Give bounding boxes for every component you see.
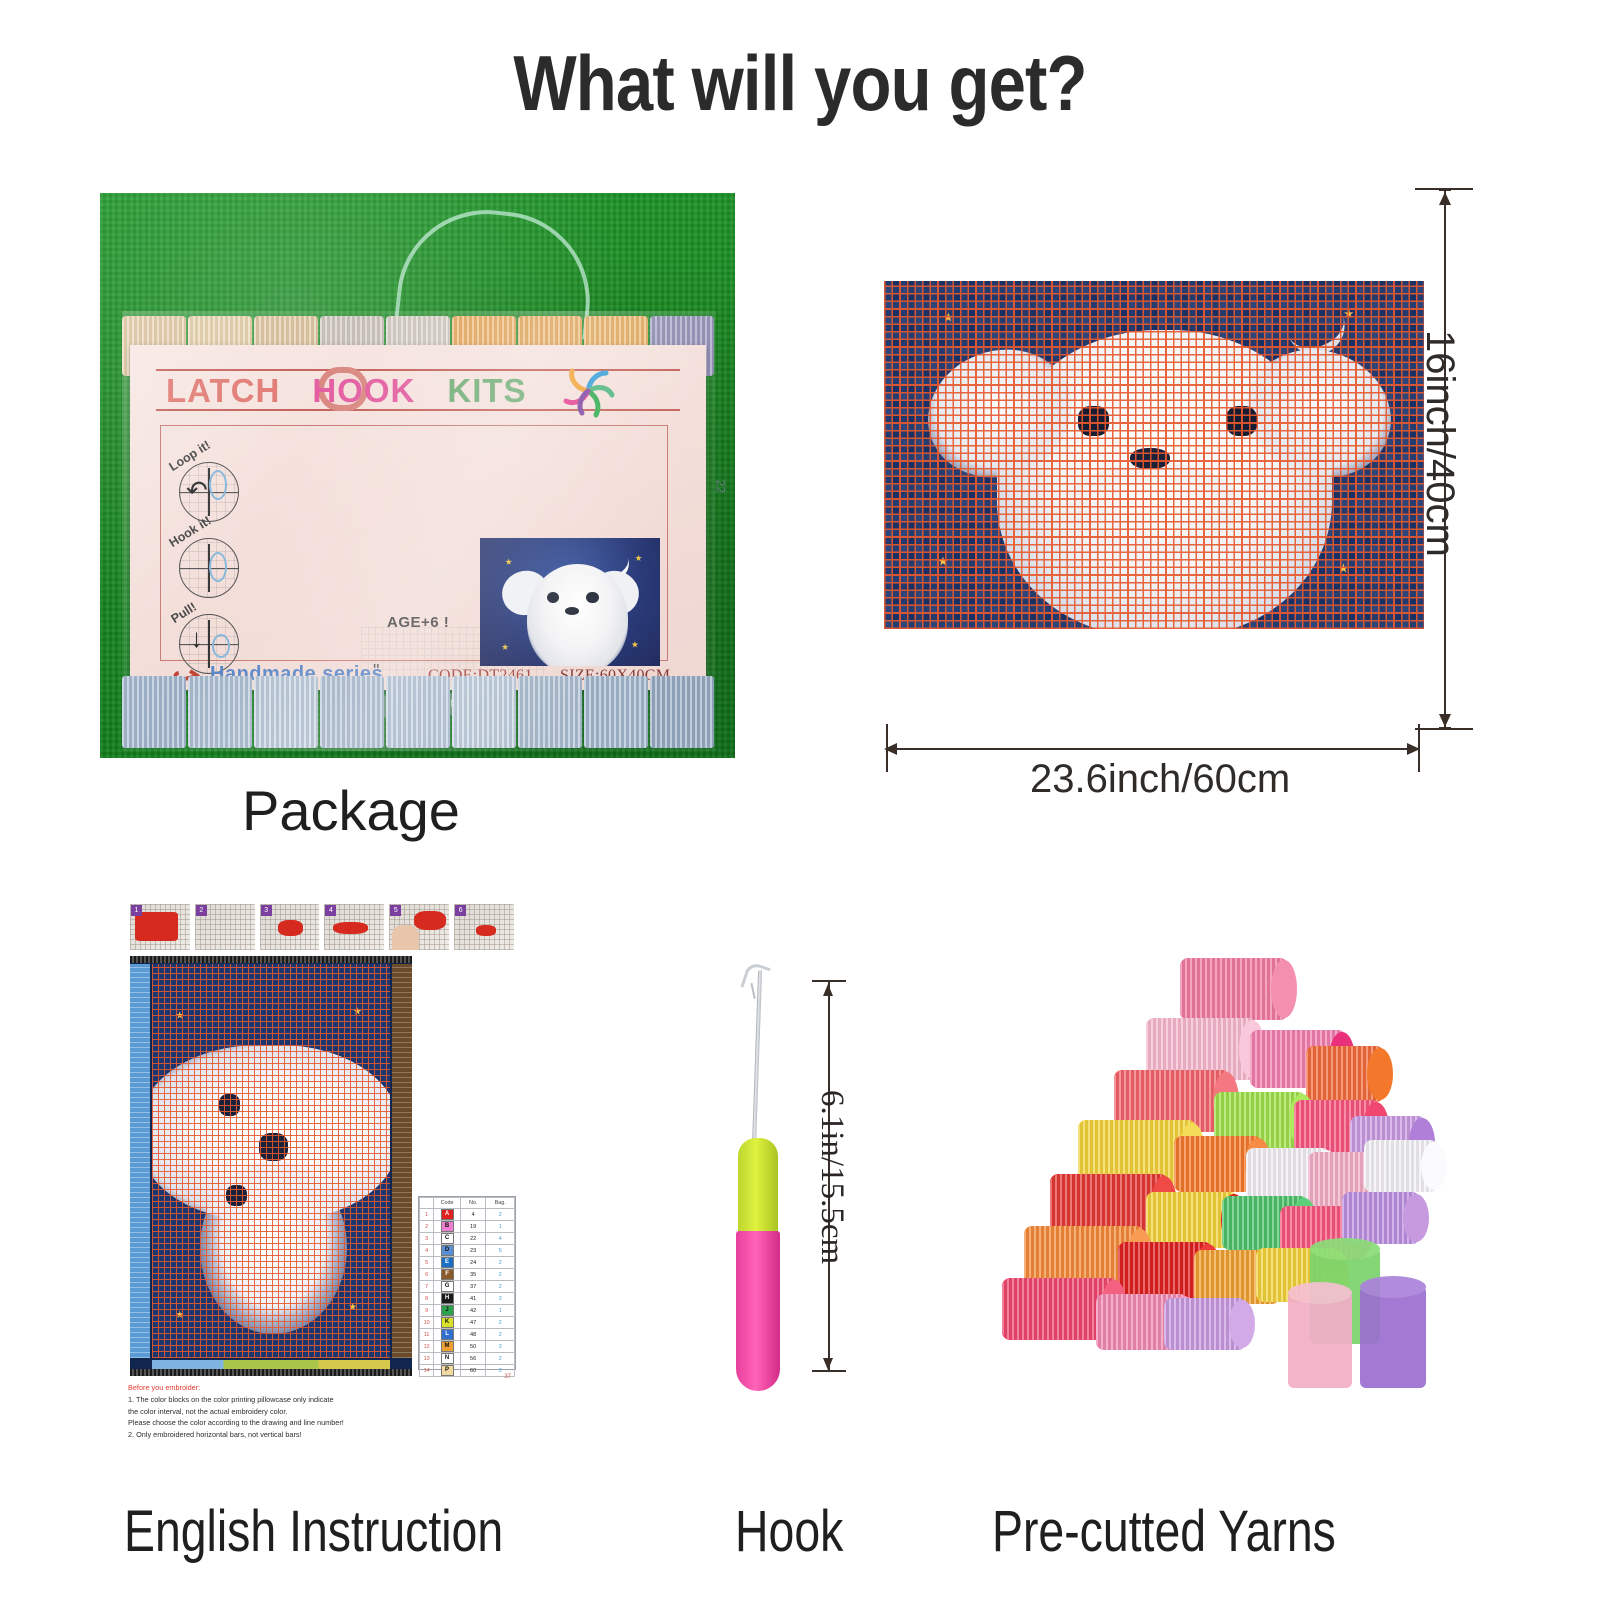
dimension-line-horizontal	[888, 748, 1418, 750]
before-line-2: the color interval, not the actual embro…	[128, 1407, 287, 1416]
legend-cell-no: 22	[460, 1233, 486, 1245]
legend-color-chip: L	[441, 1329, 454, 1340]
legend-cell-index: 6	[420, 1269, 434, 1281]
dimension-width-label: 23.6inch/60cm	[1030, 757, 1290, 802]
hook-handle-lower	[736, 1231, 780, 1391]
canvas-mesh	[884, 281, 1424, 629]
legend-cell-index: 13	[420, 1353, 434, 1365]
caption-precutted-yarns: Pre-cutted Yarns	[992, 1498, 1336, 1565]
legend-color-chip: N	[441, 1353, 454, 1364]
legend-cell-bag: 2	[486, 1353, 515, 1365]
legend-cell-no: 23	[460, 1245, 486, 1257]
legend-cell-index: 4	[420, 1245, 434, 1257]
legend-cell-index: 9	[420, 1305, 434, 1317]
legend-cell-bag: 1	[486, 1305, 515, 1317]
brand-word-kits: KITS	[447, 372, 526, 410]
legend-table: Code No. Bag. 1A422B1913C2244D2355E2426F…	[419, 1197, 515, 1377]
step-photo: 1	[130, 904, 190, 950]
legend-cell-no: 35	[460, 1269, 486, 1281]
before-line-1: 1. The color blocks on the color printin…	[128, 1395, 334, 1404]
legend-cell-index: 5	[420, 1257, 434, 1269]
package-photo: LATCH HOOK KITS ↶ Loop	[100, 193, 735, 758]
latch-hook-tool: 6.1in/15.5cm	[700, 960, 880, 1400]
hook-dimension-tick-bottom	[812, 1370, 846, 1372]
yarn-row-bottom	[122, 676, 714, 748]
legend-cell-bag: 2	[486, 1269, 515, 1281]
legend-cell-no: 37	[460, 1281, 486, 1293]
rug-preview-image	[480, 538, 660, 666]
yarn-bundle	[1180, 958, 1288, 1020]
arrowhead-up-icon	[823, 984, 833, 996]
legend-cell-no: 41	[460, 1293, 486, 1305]
arrowhead-right-icon	[1407, 743, 1420, 755]
legend-cell-bag: 2	[486, 1317, 515, 1329]
legend-cell-bag: 2	[486, 1209, 515, 1221]
legend-cell-code: B	[434, 1221, 461, 1233]
hook-dimension-label: 6.1in/15.5cm	[813, 1090, 850, 1264]
legend-cell-code: P	[434, 1365, 461, 1377]
legend-color-chip: M	[441, 1341, 454, 1352]
legend-cell-no: 19	[460, 1221, 486, 1233]
legend-cell-index: 7	[420, 1281, 434, 1293]
legend-header-no: No.	[460, 1198, 486, 1209]
legend-color-chip: E	[441, 1257, 454, 1268]
yarn-bundle	[1306, 1046, 1384, 1102]
legend-cell-bag: 3	[486, 1293, 515, 1305]
legend-cell-no: 47	[460, 1317, 486, 1329]
infographic-page: What will you get? LATCH HOOK KITS	[0, 0, 1600, 1600]
arrowhead-down-icon	[823, 1358, 833, 1370]
caption-package: Package	[242, 778, 460, 843]
before-you-embroider-note: Before you embroider: 1. The color block…	[128, 1382, 428, 1440]
chart-color-bar-left	[130, 964, 150, 1358]
step-photo-number: 1	[131, 905, 142, 916]
legend-color-chip: A	[441, 1209, 454, 1220]
step-photo-number: 3	[261, 905, 272, 916]
legend-color-chip: K	[441, 1317, 454, 1328]
instruction-sheet: 1 2 3 4 5	[122, 898, 520, 1478]
legend-cell-code: M	[434, 1341, 461, 1353]
yarn-bundle	[1364, 1140, 1438, 1192]
legend-cell-bag: 2	[486, 1329, 515, 1341]
canvas-dog-nose	[1130, 448, 1171, 469]
legend-row: 14P603	[420, 1365, 515, 1377]
legend-row: 9J421	[420, 1305, 515, 1317]
canvas-dog-eye-right	[1226, 406, 1256, 436]
legend-cell-index: 12	[420, 1341, 434, 1353]
yarn-tube	[1360, 1286, 1426, 1388]
legend-color-chip: C	[441, 1233, 454, 1244]
legend-cell-no: 60	[460, 1365, 486, 1377]
legend-cell-no: 56	[460, 1353, 486, 1365]
legend-cell-index: 14	[420, 1365, 434, 1377]
legend-cell-no: 42	[460, 1305, 486, 1317]
step-photo: 3	[260, 904, 320, 950]
before-heading: Before you embroider:	[128, 1382, 428, 1393]
legend-row: 4D235	[420, 1245, 515, 1257]
legend-row: 3C224	[420, 1233, 515, 1245]
chart-pattern-area	[152, 964, 390, 1358]
label-instruction-box: ↶ Loop it! Hook it! ↓ Pull! AGE+6 ! 4CT …	[160, 425, 668, 661]
legend-cell-no: 48	[460, 1329, 486, 1341]
color-code-legend: Code No. Bag. 1A422B1913C2244D2355E2426F…	[418, 1196, 516, 1370]
legend-header-code: Code	[434, 1198, 461, 1209]
step-photo-number: 5	[390, 905, 401, 916]
legend-cell-bag: 2	[486, 1257, 515, 1269]
legend-cell-index: 11	[420, 1329, 434, 1341]
legend-row: 1A42	[420, 1209, 515, 1221]
arrowhead-left-icon	[884, 743, 897, 755]
step-photo: 6	[454, 904, 514, 950]
legend-cell-bag: 1	[486, 1221, 515, 1233]
step-photo: 4	[324, 904, 384, 950]
chart-grid-overlay	[152, 964, 390, 1358]
legend-header-bag: Bag.	[486, 1198, 515, 1209]
package-side-text: 22	[713, 480, 727, 493]
legend-cell-index: 1	[420, 1209, 434, 1221]
pattern-chart	[130, 956, 412, 1376]
legend-cell-index: 8	[420, 1293, 434, 1305]
yarn-bundle	[1164, 1298, 1246, 1350]
legend-cell-code: F	[434, 1269, 461, 1281]
canvas-dog-eye-left	[1078, 406, 1108, 436]
legend-row: 12M503	[420, 1341, 515, 1353]
instruction-step-photos: 1 2 3 4 5	[130, 904, 514, 950]
step-photo: 5	[389, 904, 449, 950]
legend-cell-code: A	[434, 1209, 461, 1221]
legend-row: 13N562	[420, 1353, 515, 1365]
legend-cell-code: C	[434, 1233, 461, 1245]
legend-cell-bag: 4	[486, 1233, 515, 1245]
chart-color-bar-right	[392, 964, 412, 1358]
brand-word-latch: LATCH	[166, 372, 280, 410]
chart-edge-bottom	[130, 1369, 412, 1376]
page-title: What will you get?	[112, 38, 1488, 129]
legend-color-chip: B	[441, 1221, 454, 1232]
legend-cell-index: 10	[420, 1317, 434, 1329]
legend-cell-no: 24	[460, 1257, 486, 1269]
hook-handle-upper	[738, 1138, 778, 1234]
chart-edge-top	[130, 956, 412, 963]
legend-cell-code: K	[434, 1317, 461, 1329]
before-line-3: Please choose the color according to the…	[128, 1418, 344, 1427]
legend-cell-no: 4	[460, 1209, 486, 1221]
step-photo-number: 4	[325, 905, 336, 916]
legend-cell-code: G	[434, 1281, 461, 1293]
legend-color-chip: F	[441, 1269, 454, 1280]
legend-total: 37	[504, 1374, 511, 1380]
legend-row: 8H413	[420, 1293, 515, 1305]
legend-cell-code: J	[434, 1305, 461, 1317]
step-circle-loop: ↶	[179, 462, 239, 522]
legend-color-chip: P	[441, 1365, 454, 1376]
caption-hook: Hook	[735, 1498, 843, 1565]
pinwheel-logo-icon	[560, 363, 616, 419]
legend-cell-no: 50	[460, 1341, 486, 1353]
legend-cell-index: 2	[420, 1221, 434, 1233]
step-photo-number: 6	[455, 905, 466, 916]
legend-row: 10K472	[420, 1317, 515, 1329]
legend-row: 2B191	[420, 1221, 515, 1233]
legend-cell-code: E	[434, 1257, 461, 1269]
legend-row: 11L482	[420, 1329, 515, 1341]
legend-row: 5E242	[420, 1257, 515, 1269]
legend-cell-code: H	[434, 1293, 461, 1305]
arrowhead-up-icon	[1439, 192, 1451, 205]
caption-english-instruction: English Instruction	[124, 1498, 503, 1565]
precut-yarn-bundles	[950, 930, 1450, 1410]
legend-cell-code: L	[434, 1329, 461, 1341]
step-circle-hook	[179, 538, 239, 598]
legend-color-chip: G	[441, 1281, 454, 1292]
canvas-dog-muzzle	[1062, 462, 1246, 566]
yarn-tube	[1288, 1292, 1352, 1388]
legend-cell-bag: 5	[486, 1245, 515, 1257]
legend-cell-bag: 2	[486, 1281, 515, 1293]
legend-color-chip: H	[441, 1293, 454, 1304]
before-line-4: 2. Only embroidered horizontal bars, not…	[128, 1430, 302, 1439]
legend-cell-index: 3	[420, 1233, 434, 1245]
package-label: LATCH HOOK KITS ↶ Loop	[130, 345, 706, 690]
step-photo: 2	[195, 904, 255, 950]
brand-word-hook: HOOK	[312, 372, 415, 410]
yarn-bundle	[1342, 1192, 1420, 1244]
legend-cell-code: N	[434, 1353, 461, 1365]
legend-header-row: Code No. Bag.	[420, 1198, 515, 1209]
legend-cell-bag: 3	[486, 1341, 515, 1353]
printed-canvas	[884, 281, 1424, 629]
legend-header-index	[420, 1198, 434, 1209]
step-photo-number: 2	[196, 905, 207, 916]
legend-cell-code: D	[434, 1245, 461, 1257]
legend-color-chip: D	[441, 1245, 454, 1256]
legend-color-chip: J	[441, 1305, 454, 1316]
legend-row: 7G372	[420, 1281, 515, 1293]
legend-row: 6F352	[420, 1269, 515, 1281]
arrowhead-down-icon	[1439, 714, 1451, 727]
